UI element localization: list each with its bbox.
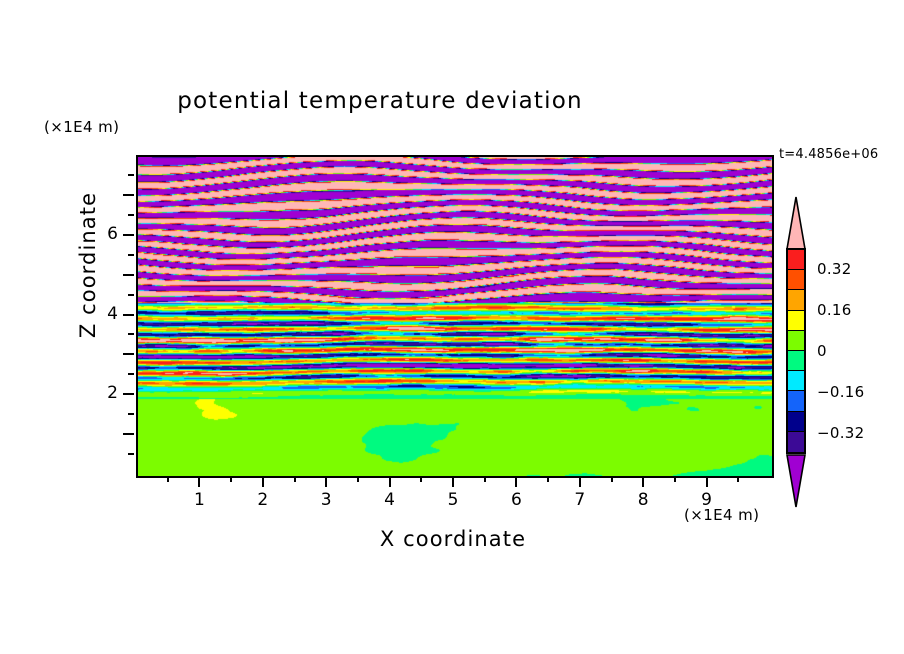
y-axis-tick — [128, 373, 134, 375]
y-axis-tick — [128, 413, 134, 415]
colorbar-tick-label: 0.16 — [817, 301, 852, 319]
y-axis-tick — [128, 333, 134, 335]
colorbar-band — [788, 311, 804, 331]
colorbar-band — [788, 270, 804, 290]
x-axis-tick — [167, 476, 169, 482]
colorbar-band — [788, 250, 804, 270]
x-axis-tick-label: 5 — [433, 490, 473, 510]
x-axis-tick — [325, 476, 327, 487]
x-axis-tick — [674, 476, 676, 482]
colorbar-tick-label: 0.32 — [817, 260, 852, 278]
x-axis-tick — [294, 476, 296, 482]
x-axis-tick — [484, 476, 486, 482]
x-axis-tick — [515, 476, 517, 487]
y-axis-unit-label: (×1E4 m) — [44, 118, 119, 136]
colorbar-tick-label: −0.32 — [817, 424, 864, 442]
y-axis-tick-label: 4 — [78, 304, 118, 324]
y-axis-tick — [128, 254, 134, 256]
x-axis-tick — [737, 476, 739, 482]
y-axis-tick — [128, 294, 134, 296]
colorbar-bottom-arrow-icon — [786, 454, 806, 508]
colorbar-top-arrow-icon — [786, 196, 806, 250]
colorbar-band — [788, 290, 804, 310]
x-axis-tick — [198, 476, 200, 487]
x-axis-tick — [579, 476, 581, 487]
x-axis-tick-label: 8 — [623, 490, 663, 510]
y-axis-tick-label: 2 — [78, 383, 118, 403]
y-axis-tick — [123, 353, 134, 355]
x-axis-tick-label: 9 — [687, 490, 727, 510]
x-axis-tick-label: 6 — [496, 490, 536, 510]
x-axis-tick-label: 1 — [179, 490, 219, 510]
colorbar-band — [788, 391, 804, 411]
x-axis-title: X coordinate — [136, 527, 770, 551]
x-axis-tick-label: 7 — [560, 490, 600, 510]
colorbar-band — [788, 432, 804, 452]
x-axis-tick — [420, 476, 422, 482]
x-axis-tick — [547, 476, 549, 482]
x-axis-tick — [357, 476, 359, 482]
colorbar-bands — [786, 248, 806, 454]
x-axis-tick — [611, 476, 613, 482]
timestamp-annotation: t=4.4856e+06 — [779, 147, 878, 162]
colorbar: 0.320.160−0.16−0.32 — [783, 196, 809, 506]
colorbar-band — [788, 412, 804, 432]
colorbar-tick-label: −0.16 — [817, 383, 864, 401]
colorbar-tick-label: 0 — [817, 342, 827, 360]
x-axis-tick-label: 3 — [306, 490, 346, 510]
colorbar-band — [788, 351, 804, 371]
x-axis-tick — [389, 476, 391, 487]
colorbar-band — [788, 371, 804, 391]
y-axis-tick — [128, 214, 134, 216]
figure-root: potential temperature deviation (×1E4 m)… — [0, 0, 904, 654]
y-axis-tick — [128, 174, 134, 176]
y-axis-tick-label: 6 — [78, 224, 118, 244]
y-axis-tick — [123, 314, 134, 316]
contour-plot-area — [136, 155, 774, 478]
page-title: potential temperature deviation — [0, 88, 760, 114]
x-axis-tick — [230, 476, 232, 482]
x-axis-tick-label: 4 — [370, 490, 410, 510]
x-axis-tick — [642, 476, 644, 487]
colorbar-band — [788, 331, 804, 351]
y-axis-tick — [123, 433, 134, 435]
x-axis-tick — [262, 476, 264, 487]
x-axis-tick — [706, 476, 708, 487]
y-axis-tick — [123, 393, 134, 395]
y-axis-title: Z coordinate — [76, 155, 100, 375]
y-axis-tick — [123, 274, 134, 276]
y-axis-tick — [123, 194, 134, 196]
x-axis-tick-label: 2 — [243, 490, 283, 510]
contour-field — [138, 157, 772, 476]
y-axis-tick — [128, 453, 134, 455]
x-axis-tick — [452, 476, 454, 487]
y-axis-tick — [123, 234, 134, 236]
